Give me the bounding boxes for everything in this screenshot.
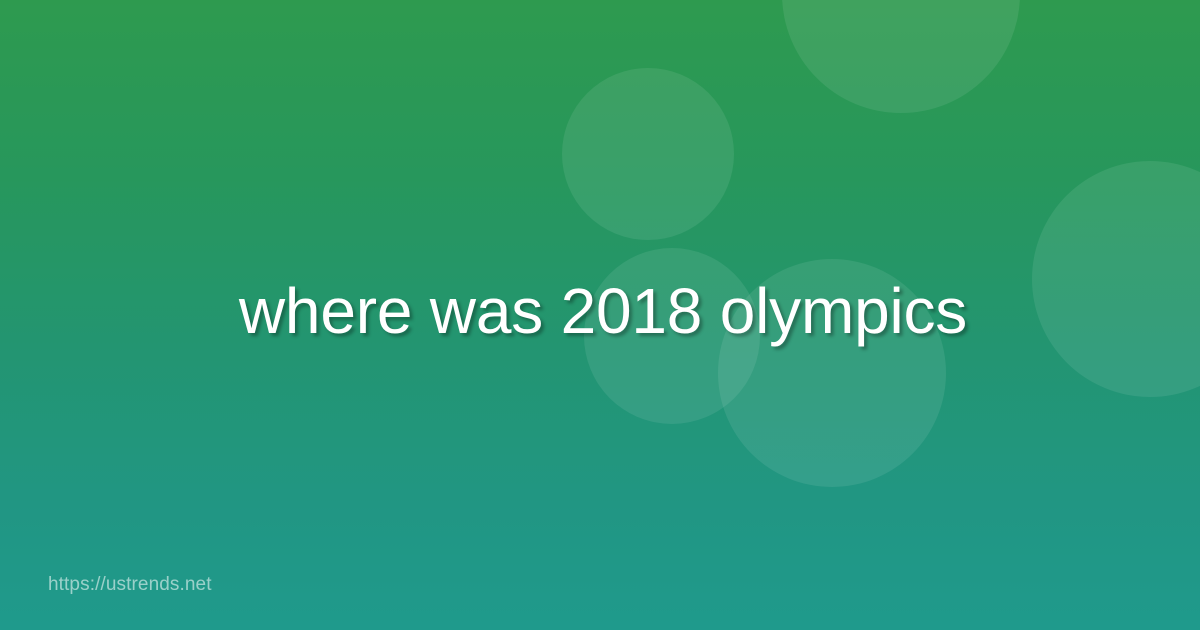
page-title-text: where was 2018 olympics [239, 276, 967, 348]
site-url-label: https://ustrends.net [48, 574, 212, 595]
share-card: where was 2018 olympics https://ustrends… [0, 0, 1200, 630]
footer: https://ustrends.net [48, 574, 212, 596]
page-title: where was 2018 olympics [0, 0, 1200, 630]
